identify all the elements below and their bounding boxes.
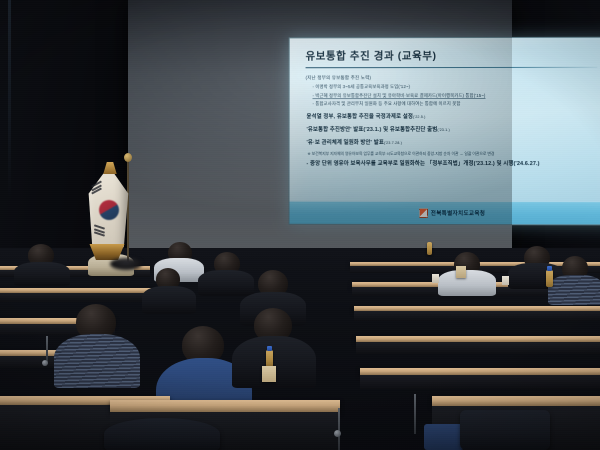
lecture-desk-front [354,311,600,321]
lecture-desk-front [0,293,160,302]
beverage-bottle [546,270,553,287]
bullet-text: '유·보 관리체계 일원화 방안' 발표 [306,140,383,146]
slide-footer: 전북특별자치도교육청 [289,201,600,225]
bullet-date: ('22.5.) [413,115,426,119]
slide-note: ※ 보건복지부 지자체의 영유아보육 업무를 교육부·시도교육청으로 이관하되 … [307,152,600,157]
chair-leg [338,408,340,450]
lecture-desk [360,368,600,375]
lecture-chair [424,424,464,450]
slide-lead-text: (지난 정부의 유보통합 추진 노력) [306,74,600,80]
person-body [54,334,140,388]
person-body [142,286,196,314]
title-underline [306,66,598,67]
bottle-cap [267,346,272,351]
chair-caster-icon [334,430,341,437]
person-body [548,275,600,305]
slide-subpoint: - 박근혜 정부의 유보통합추진단 설치 및 유아학비·보육료 결제카드(아이행… [312,92,600,99]
chair-caster-icon [42,360,48,366]
slide-subpoint: - 통합교사자격 및 관리부처 일원화 등 주요 사항에 대하여는 통합에 이르… [312,101,600,108]
bullet-date: ('23.1.) [437,128,450,132]
wall-seam [8,0,11,200]
lecture-chair [104,418,220,450]
projection-screen: 유보통합 추진 경과 (교육부) (지난 정부의 유보통합 추진 노력) - 이… [128,0,512,252]
flag-pole [127,158,129,266]
person-body [14,262,70,286]
bullet-date: ('23.7.28.) [384,141,402,145]
flag-finial-icon [124,153,132,162]
paper-carton [456,266,466,278]
lecture-desk [432,396,600,406]
flag-gold-top [102,162,118,174]
paper-carton [262,366,276,382]
beverage-bottle [427,242,432,255]
seating-area [0,248,600,450]
jeonbuk-education-office-logo-icon [419,208,428,218]
slide-bullet: '유·보 관리체계 일원화 방안' 발표('23.7.28.) [306,140,600,148]
slide-bullet: 윤석열 정부, 유보통합 추진을 국정과제로 설정('22.5.) [306,114,600,122]
bullet-text: 윤석열 정부, 유보통합 추진을 국정과제로 설정 [306,114,413,120]
lecture-desk [110,400,340,412]
bullet-text: '유보통합 추진방안' 발표('23.1.) 및 유보통합추진단 출범 [306,127,437,133]
lecture-desk-front [360,375,600,389]
beverage-bottle [266,350,273,367]
person-body [198,270,254,296]
paper-cup [432,274,439,283]
auditorium-presentation-scene: 유보통합 추진 경과 (교육부) (지난 정부의 유보통합 추진 노력) - 이… [0,0,600,450]
slide-footer-org: 전북특별자치도교육청 [431,209,486,217]
paper-cup [502,276,509,285]
chair-leg [414,394,416,434]
lecture-chair [460,410,550,450]
flag-stand-base [110,258,142,270]
slide-subpoint: - 이명박 정부의 3~5세 공통교육보육과정 도입('12~) [312,83,600,90]
taeguk-circle-icon [99,200,119,220]
slide-title: 유보통합 추진 경과 (교육부) [306,51,600,63]
person-body [438,270,496,296]
bottle-cap [547,266,552,271]
south-korean-taegukgi-flag [78,158,140,270]
slide-bullet: '유보통합 추진방안' 발표('23.1.) 및 유보통합추진단 출범('23.… [306,127,600,135]
slide-final-bullet: - 중앙 단위 영유아 보육사무를 교육부로 일원화하는 「정부조직법」개정('… [306,161,600,169]
lecture-desk-front [356,342,600,354]
presentation-slide: 유보통합 추진 경과 (교육부) (지난 정부의 유보통합 추진 노력) - 이… [288,37,600,226]
